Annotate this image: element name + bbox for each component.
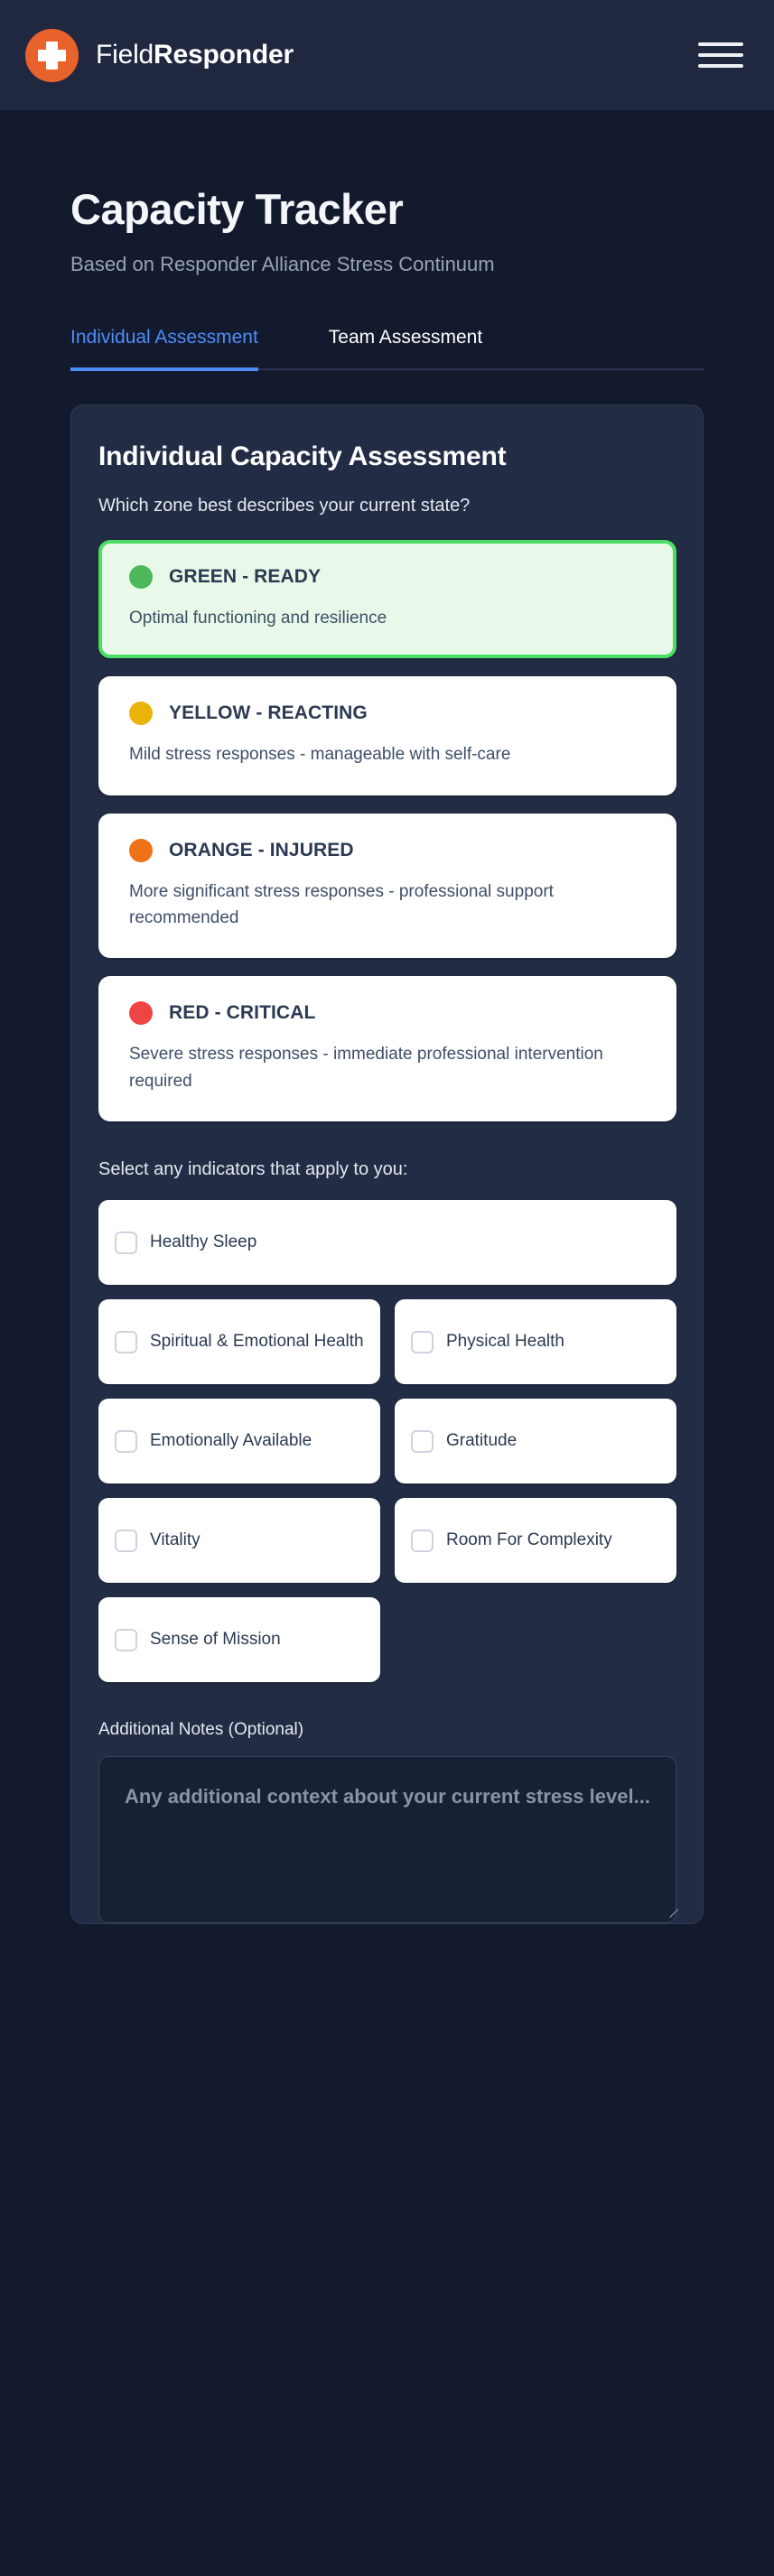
page-subtitle: Based on Responder Alliance Stress Conti… xyxy=(70,233,704,276)
zone-label: RED - CRITICAL xyxy=(169,1002,315,1024)
indicator-room-for-complexity[interactable]: Room For Complexity xyxy=(395,1498,676,1583)
hamburger-menu-icon[interactable] xyxy=(698,37,743,73)
indicator-label: Physical Health xyxy=(446,1329,564,1355)
zone-option-yellow[interactable]: YELLOW - REACTING Mild stress responses … xyxy=(98,676,676,795)
zone-header: ORANGE - INJURED xyxy=(129,839,646,862)
zone-option-red[interactable]: RED - CRITICAL Severe stress responses -… xyxy=(98,976,676,1121)
hamburger-bar-1 xyxy=(698,42,743,46)
zone-header: YELLOW - REACTING xyxy=(129,702,646,725)
zone-header: RED - CRITICAL xyxy=(129,1001,646,1025)
zone-option-list: GREEN - READY Optimal functioning and re… xyxy=(98,540,676,1122)
brand-name: FieldResponder xyxy=(96,40,294,70)
indicator-checkbox-grid: Healthy Sleep Spiritual & Emotional Heal… xyxy=(98,1200,676,1682)
additional-notes-textarea[interactable]: Any additional context about your curren… xyxy=(98,1756,676,1923)
zone-status-dot-yellow-icon xyxy=(129,702,153,725)
brand-name-second: Responder xyxy=(154,40,294,70)
individual-assessment-card: Individual Capacity Assessment Which zon… xyxy=(70,405,704,1925)
indicator-vitality[interactable]: Vitality xyxy=(98,1498,380,1583)
additional-notes-label: Additional Notes (Optional) xyxy=(98,1720,676,1740)
indicators-label: Select any indicators that apply to you: xyxy=(98,1159,676,1180)
indicator-label: Gratitude xyxy=(446,1428,517,1455)
medical-cross-icon xyxy=(25,29,79,82)
zone-description: More significant stress responses - prof… xyxy=(129,879,646,932)
brand-logo-group[interactable]: FieldResponder xyxy=(25,29,294,82)
indicator-spiritual-emotional-health[interactable]: Spiritual & Emotional Health xyxy=(98,1299,380,1384)
assessment-tabs: Individual Assessment Team Assessment xyxy=(70,327,704,370)
additional-notes-placeholder: Any additional context about your curren… xyxy=(125,1781,650,1812)
card-title: Individual Capacity Assessment xyxy=(98,442,676,472)
top-navigation-bar: FieldResponder xyxy=(0,0,774,110)
brand-name-first: Field xyxy=(96,40,154,70)
checkbox-icon[interactable] xyxy=(115,1430,137,1453)
checkbox-icon[interactable] xyxy=(115,1232,137,1254)
zone-label: GREEN - READY xyxy=(169,566,321,588)
zone-header: GREEN - READY xyxy=(129,565,646,589)
checkbox-icon[interactable] xyxy=(411,1530,434,1552)
checkbox-icon[interactable] xyxy=(115,1530,137,1552)
resize-handle-icon[interactable] xyxy=(658,1906,671,1919)
zone-description: Mild stress responses - manageable with … xyxy=(129,741,646,767)
page-title: Capacity Tracker xyxy=(70,110,704,233)
indicator-gratitude[interactable]: Gratitude xyxy=(395,1399,676,1483)
app-root: FieldResponder Capacity Tracker Based on… xyxy=(0,0,774,2576)
indicator-physical-health[interactable]: Physical Health xyxy=(395,1299,676,1384)
indicator-label: Emotionally Available xyxy=(150,1428,312,1455)
checkbox-icon[interactable] xyxy=(411,1331,434,1353)
hamburger-bar-3 xyxy=(698,64,743,68)
indicator-label: Spiritual & Emotional Health xyxy=(150,1329,364,1355)
zone-status-dot-red-icon xyxy=(129,1001,153,1025)
tab-individual-assessment[interactable]: Individual Assessment xyxy=(70,327,258,371)
zone-option-orange[interactable]: ORANGE - INJURED More significant stress… xyxy=(98,814,676,959)
page-content: Capacity Tracker Based on Responder Alli… xyxy=(0,110,774,1924)
indicator-label: Sense of Mission xyxy=(150,1627,281,1653)
checkbox-icon[interactable] xyxy=(115,1629,137,1651)
zone-option-green[interactable]: GREEN - READY Optimal functioning and re… xyxy=(98,540,676,658)
zone-status-dot-green-icon xyxy=(129,565,153,589)
indicator-label: Vitality xyxy=(150,1528,200,1554)
indicator-healthy-sleep[interactable]: Healthy Sleep xyxy=(98,1200,676,1285)
checkbox-icon[interactable] xyxy=(115,1331,137,1353)
zone-status-dot-orange-icon xyxy=(129,839,153,862)
zone-description: Optimal functioning and resilience xyxy=(129,605,646,631)
zone-label: YELLOW - REACTING xyxy=(169,702,368,724)
indicator-emotionally-available[interactable]: Emotionally Available xyxy=(98,1399,380,1483)
checkbox-icon[interactable] xyxy=(411,1430,434,1453)
tab-team-assessment[interactable]: Team Assessment xyxy=(329,327,482,368)
indicator-label: Healthy Sleep xyxy=(150,1230,256,1256)
hamburger-bar-2 xyxy=(698,53,743,57)
indicator-label: Room For Complexity xyxy=(446,1528,612,1554)
zone-label: ORANGE - INJURED xyxy=(169,840,354,861)
zone-question-label: Which zone best describes your current s… xyxy=(98,496,676,516)
zone-description: Severe stress responses - immediate prof… xyxy=(129,1041,646,1094)
indicator-sense-of-mission[interactable]: Sense of Mission xyxy=(98,1597,380,1682)
card-body: Individual Capacity Assessment Which zon… xyxy=(71,442,703,1924)
